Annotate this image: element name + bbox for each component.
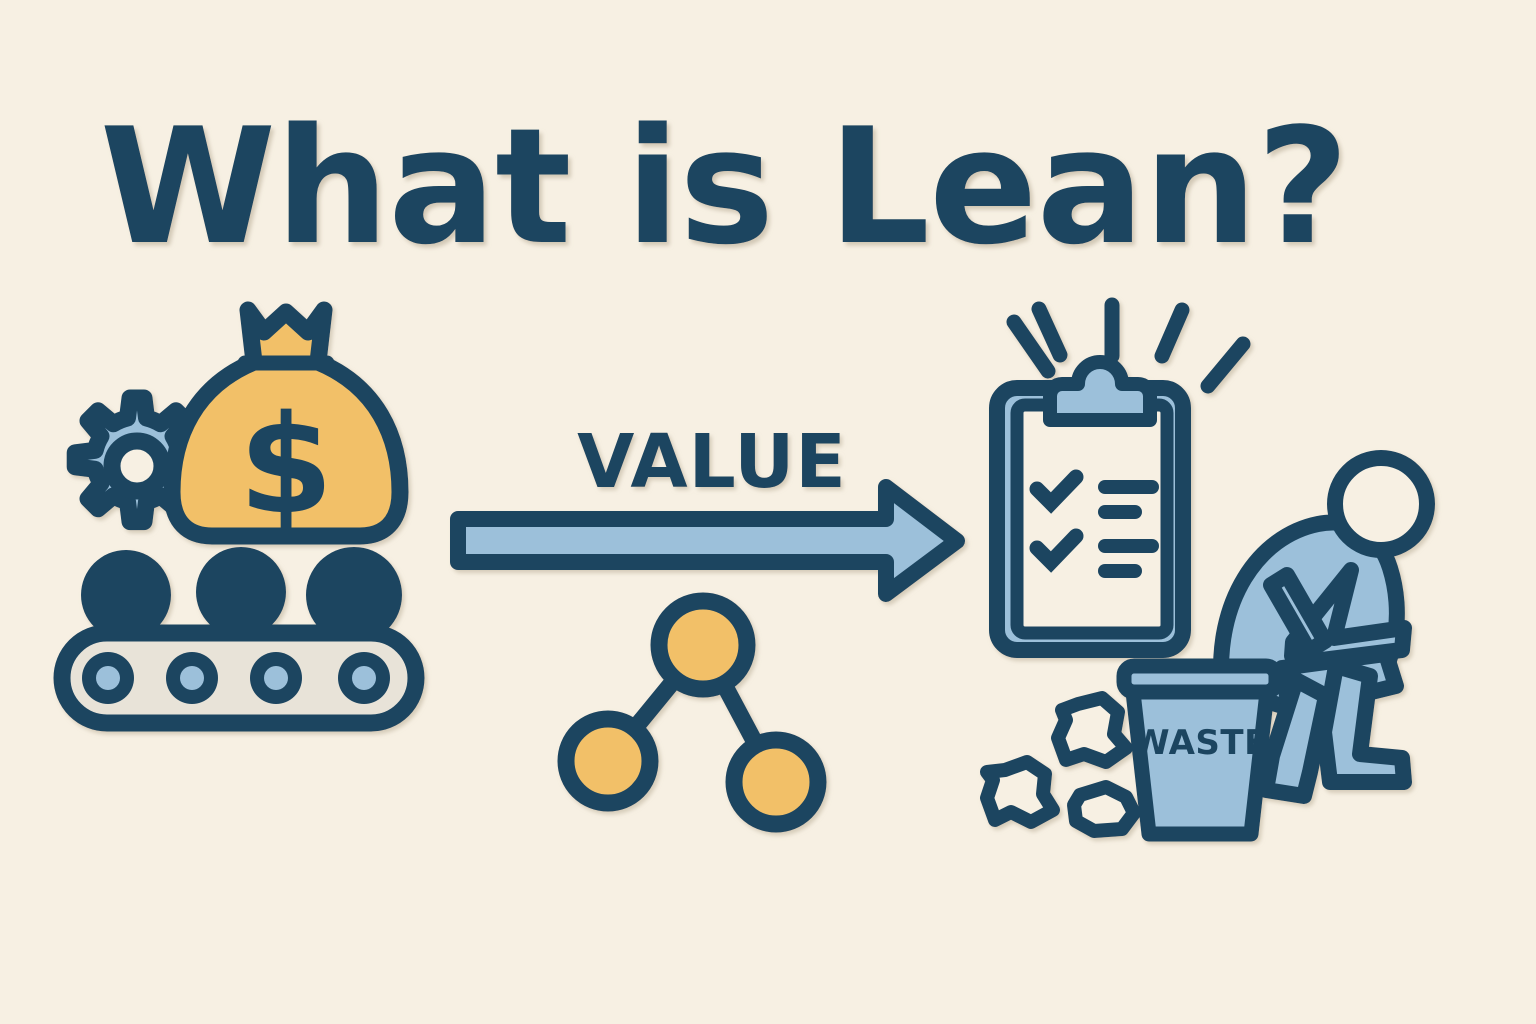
conveyor-roller — [250, 652, 302, 704]
money-symbol: $ — [239, 387, 334, 545]
illustration-canvas: What is Lean? $ — [0, 0, 1536, 1024]
waste-bin-label: WASTE — [1132, 723, 1268, 763]
page-title: What is Lean? — [100, 93, 1348, 280]
conveyor-belt — [62, 633, 416, 723]
crumpled-paper — [1074, 787, 1134, 831]
conveyor-roller — [166, 652, 218, 704]
crumpled-paper — [1058, 698, 1126, 762]
conveyor-roller — [338, 652, 390, 704]
flow-node — [659, 601, 747, 689]
conveyor-roller — [82, 652, 134, 704]
product-unit — [196, 547, 286, 637]
value-label: VALUE — [577, 419, 847, 505]
clipboard-checklist-icon — [997, 362, 1183, 650]
lean-concept-illustration: What is Lean? $ — [0, 0, 1536, 1024]
flow-node — [734, 740, 818, 824]
flow-node — [566, 719, 650, 803]
crumpled-paper — [987, 762, 1053, 822]
waste-bin: WASTE — [1124, 666, 1276, 834]
person-head — [1335, 458, 1427, 550]
